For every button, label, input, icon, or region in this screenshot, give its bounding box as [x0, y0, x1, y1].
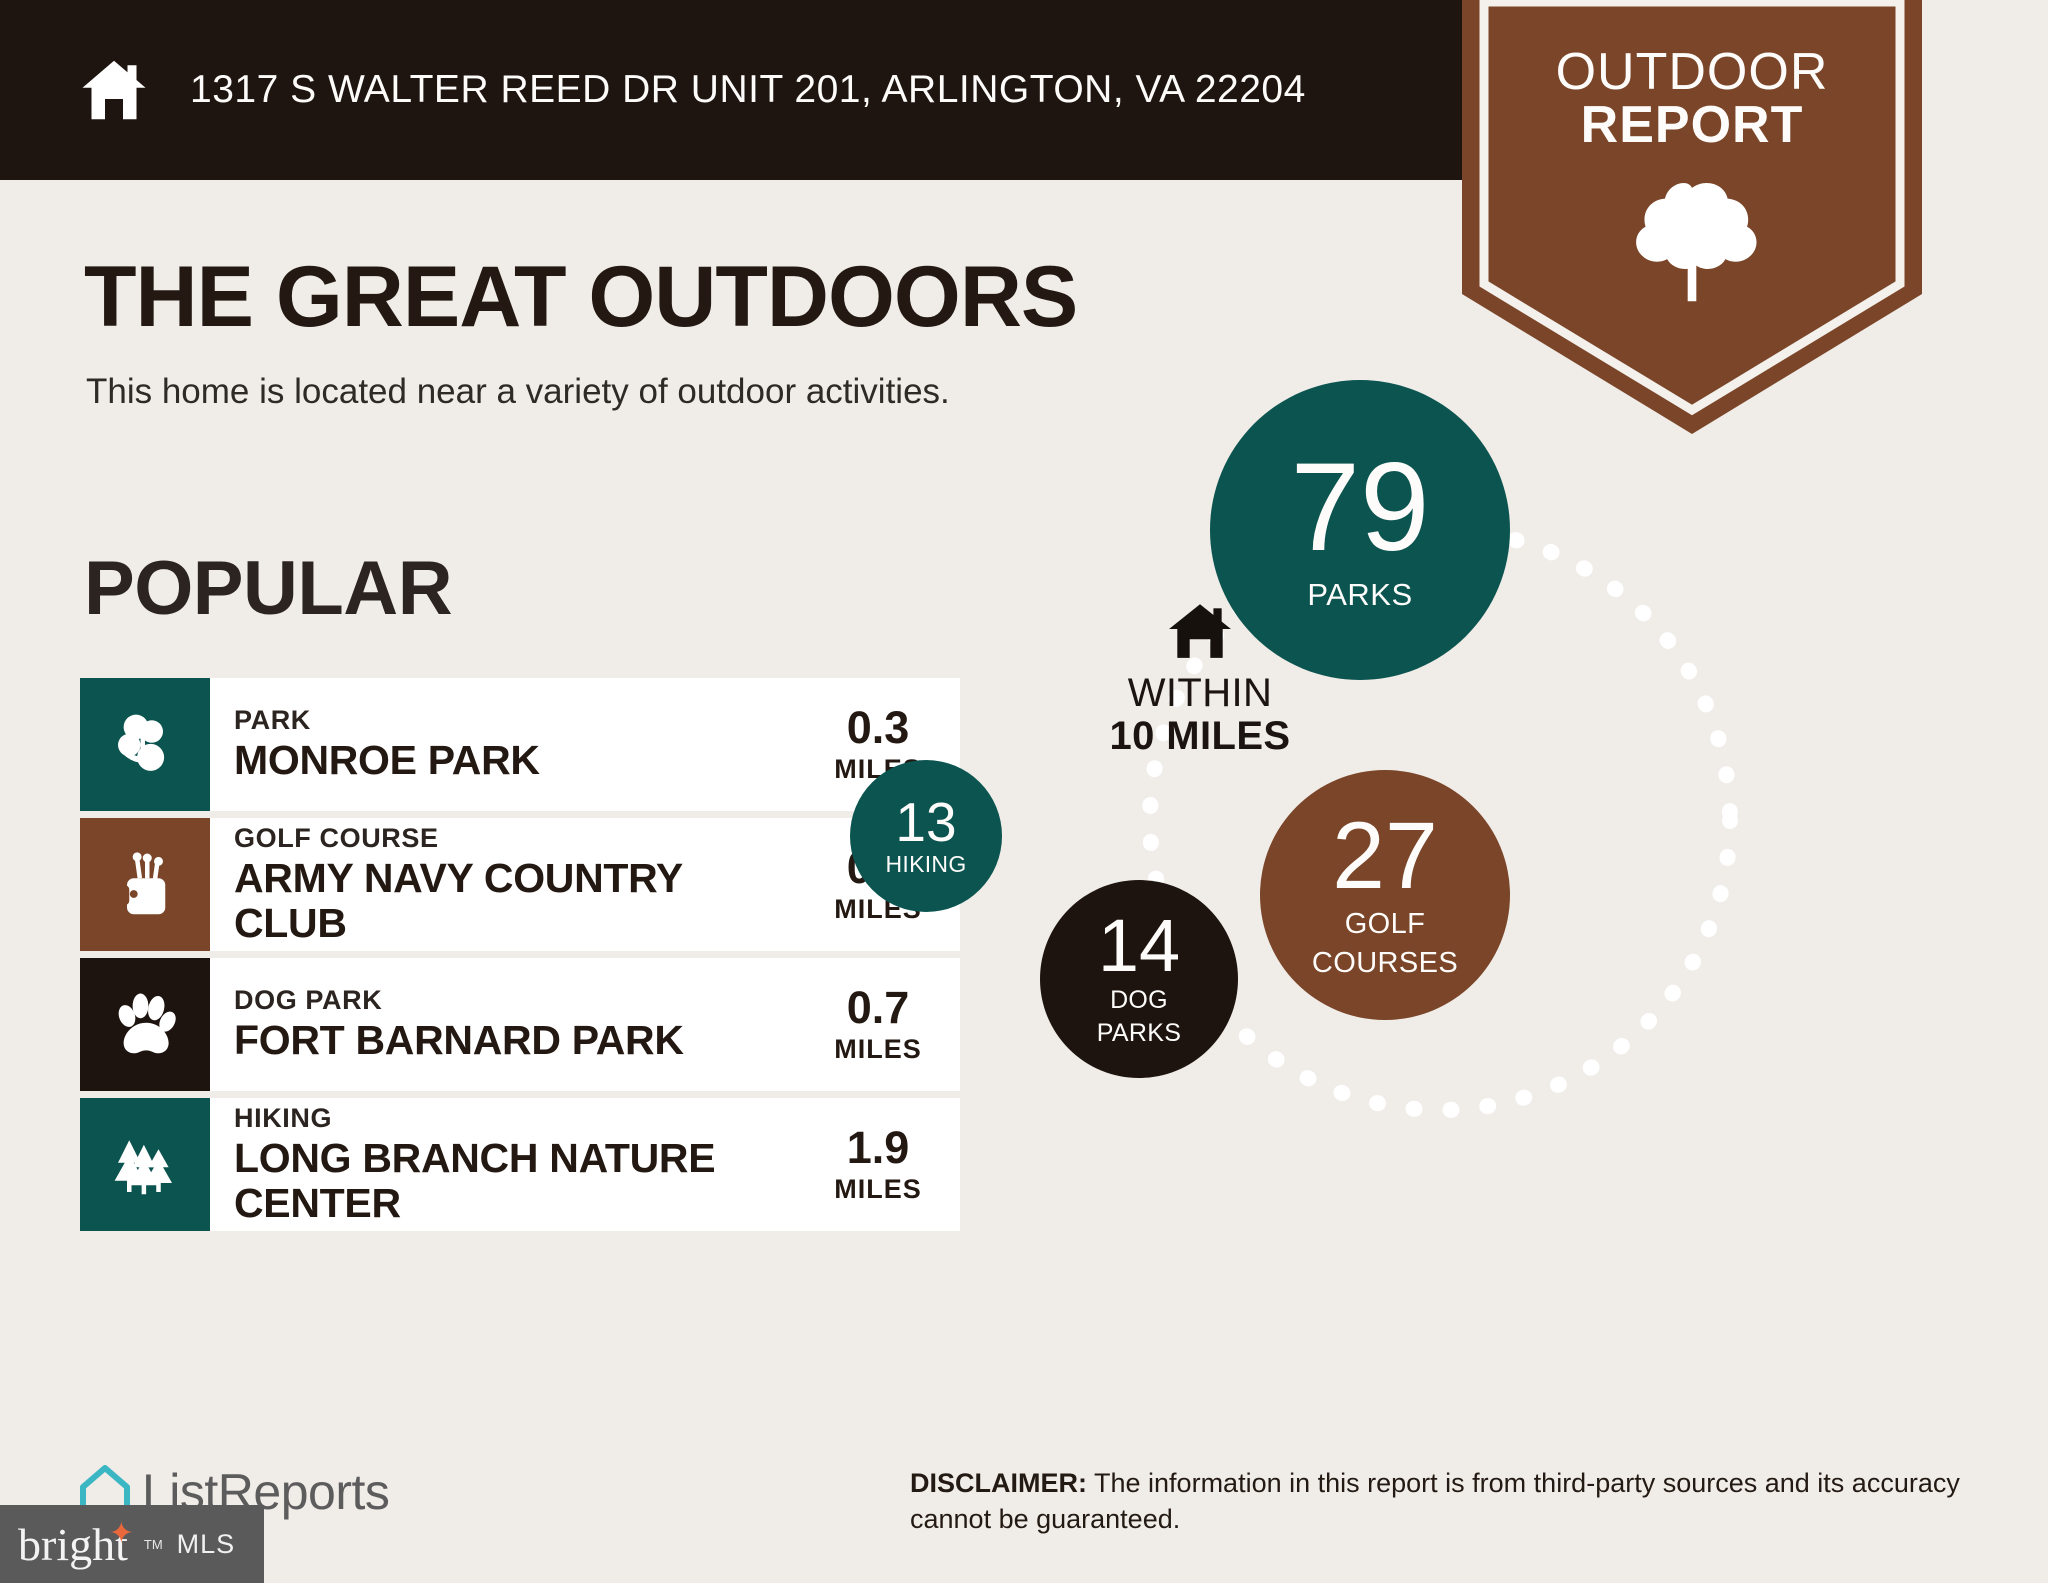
badge-line-1: OUTDOOR: [1462, 46, 1922, 99]
dog-parks-label-line-1: DOG: [1110, 987, 1168, 1014]
distance-value: 0.7: [847, 985, 910, 1030]
popular-list: PARK MONROE PARK 0.3 MILES: [80, 678, 960, 1238]
within-10-miles-diagram: WITHIN 10 MILES 79 PARKS 27 GOLF COURSES…: [1060, 440, 2000, 1340]
list-item-text: HIKING LONG BRANCH NATURE CENTER: [210, 1098, 810, 1231]
list-item-text: PARK MONROE PARK: [210, 678, 810, 811]
list-item-name: MONROE PARK: [234, 738, 802, 783]
list-item-name: FORT BARNARD PARK: [234, 1018, 802, 1063]
badge-line-2: REPORT: [1462, 99, 1922, 152]
golf-label-line-1: GOLF: [1345, 909, 1426, 940]
center-line-2: 10 MILES: [1060, 715, 1340, 758]
stat-bubble-golf-courses[interactable]: 27 GOLF COURSES: [1260, 770, 1510, 1020]
park-trees-icon: [80, 678, 210, 811]
stat-bubble-dog-parks[interactable]: 14 DOG PARKS: [1040, 880, 1238, 1078]
list-item-name: LONG BRANCH NATURE CENTER: [234, 1136, 802, 1226]
paw-print-icon: [80, 958, 210, 1091]
list-item[interactable]: DOG PARK FORT BARNARD PARK 0.7 MILES: [80, 958, 960, 1091]
disclaimer-label: DISCLAIMER:: [910, 1468, 1087, 1498]
list-item-text: DOG PARK FORT BARNARD PARK: [210, 958, 810, 1091]
list-item-category: DOG PARK: [234, 985, 802, 1016]
list-item-text: GOLF COURSE ARMY NAVY COUNTRY CLUB: [210, 818, 810, 951]
watermark-mls: MLS: [177, 1529, 236, 1560]
star-icon: ✦: [109, 1516, 134, 1551]
dog-parks-label-line-2: PARKS: [1097, 1020, 1181, 1047]
golf-label-line-2: COURSES: [1312, 948, 1458, 979]
center-line-1: WITHIN: [1060, 672, 1340, 715]
list-item-distance: 0.7 MILES: [810, 958, 960, 1091]
outdoor-report-page: 1317 S WALTER REED DR UNIT 201, ARLINGTO…: [0, 0, 2048, 1583]
list-item[interactable]: PARK MONROE PARK 0.3 MILES: [80, 678, 960, 811]
page-subtitle: This home is located near a variety of o…: [86, 372, 950, 412]
distance-unit: MILES: [834, 1174, 922, 1205]
list-item[interactable]: GOLF COURSE ARMY NAVY COUNTRY CLUB 0.5 M…: [80, 818, 960, 951]
golf-count: 27: [1332, 811, 1438, 901]
dog-parks-count: 14: [1098, 911, 1180, 981]
watermark-tm: TM: [144, 1537, 163, 1552]
parks-count: 79: [1290, 449, 1429, 568]
distance-value: 0.3: [847, 705, 910, 750]
list-item-category: GOLF COURSE: [234, 823, 802, 854]
distance-value: 1.9: [847, 1125, 910, 1170]
parks-label: PARKS: [1307, 578, 1412, 611]
pine-trees-icon: [80, 1098, 210, 1231]
header-bar: 1317 S WALTER REED DR UNIT 201, ARLINGTO…: [0, 0, 1464, 180]
stat-bubble-parks[interactable]: 79 PARKS: [1210, 380, 1510, 680]
property-address: 1317 S WALTER REED DR UNIT 201, ARLINGTO…: [190, 68, 1306, 112]
list-item-category: PARK: [234, 705, 802, 736]
popular-heading: POPULAR: [84, 545, 452, 632]
disclaimer: DISCLAIMER: The information in this repo…: [910, 1465, 1980, 1538]
stat-bubble-hiking[interactable]: 13 HIKING: [850, 760, 1002, 912]
list-item-name: ARMY NAVY COUNTRY CLUB: [234, 856, 802, 946]
list-item-category: HIKING: [234, 1103, 802, 1134]
hiking-label: HIKING: [885, 852, 966, 877]
outdoor-report-badge: OUTDOOR REPORT: [1462, 0, 1922, 434]
watermark-brand: bright ✦: [18, 1518, 128, 1571]
home-icon: [78, 54, 150, 126]
hiking-count: 13: [895, 796, 956, 848]
golf-bag-icon: [80, 818, 210, 951]
distance-unit: MILES: [834, 1034, 922, 1065]
page-title: THE GREAT OUTDOORS: [84, 248, 1077, 347]
badge-label: OUTDOOR REPORT: [1462, 46, 1922, 152]
list-item[interactable]: HIKING LONG BRANCH NATURE CENTER 1.9 MIL…: [80, 1098, 960, 1231]
list-item-distance: 1.9 MILES: [810, 1098, 960, 1231]
bright-mls-watermark: bright ✦ TM MLS: [0, 1505, 264, 1583]
